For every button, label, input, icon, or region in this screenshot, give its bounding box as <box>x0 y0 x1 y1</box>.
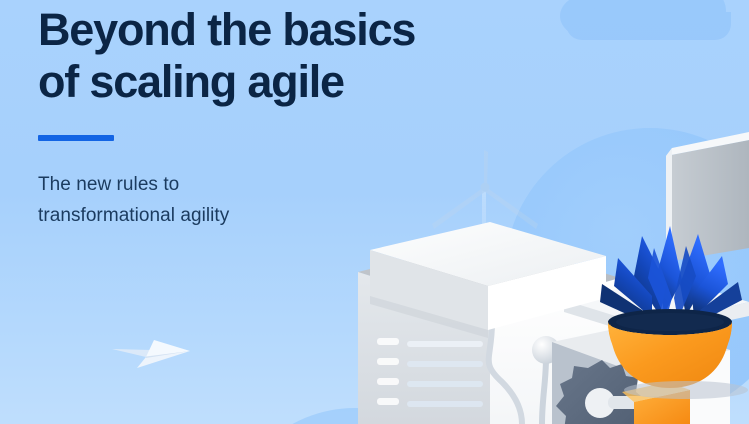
cloud-icon <box>560 0 740 38</box>
headline-line-2: of scaling agile <box>38 56 508 108</box>
tall-pillar-box <box>666 132 749 262</box>
subtitle-line-1: The new rules to <box>38 174 179 195</box>
headline-line-1: Beyond the basics <box>38 4 415 55</box>
paper-plane-icon <box>110 336 194 370</box>
subtitle-line-2: transformational agility <box>38 201 508 232</box>
hero-banner: Beyond the basics of scaling agile The n… <box>0 0 749 424</box>
accent-divider <box>38 135 114 141</box>
hero-subtitle: The new rules to transformational agilit… <box>38 170 508 232</box>
page-title: Beyond the basics of scaling agile <box>38 4 508 108</box>
hero-text-block: Beyond the basics of scaling agile The n… <box>38 4 508 232</box>
